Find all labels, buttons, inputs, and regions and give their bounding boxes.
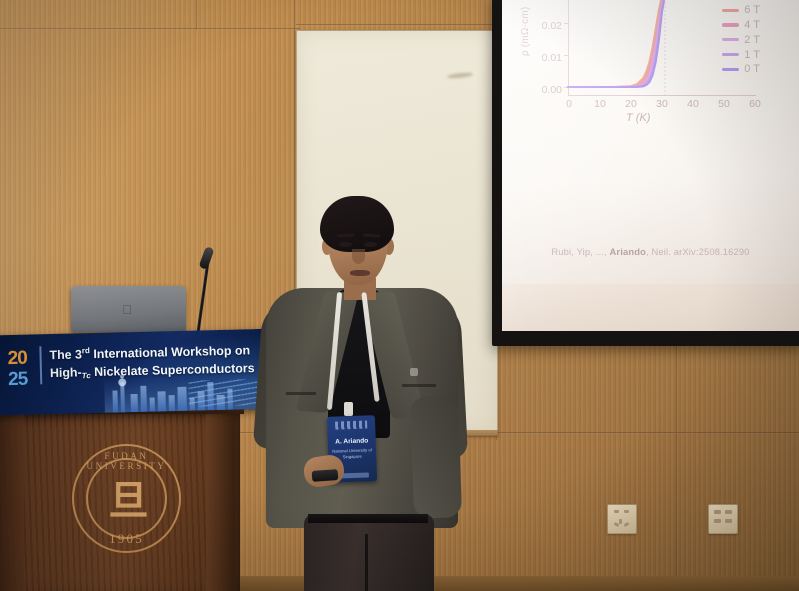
chart-x-tick-6: 60 bbox=[744, 98, 766, 110]
legend-swatch-2T bbox=[722, 38, 739, 41]
speaker-belt bbox=[308, 514, 428, 523]
speaker-eye-right bbox=[364, 242, 377, 247]
jacket-pocket-right bbox=[402, 384, 436, 387]
emblem-founding-year: 1905 bbox=[74, 531, 179, 547]
jacket-brand-badge bbox=[410, 368, 418, 376]
chart-x-tick-3: 30 bbox=[651, 98, 673, 110]
speaker-nose bbox=[352, 249, 365, 264]
legend-swatch-0T bbox=[722, 68, 739, 71]
legend-label-0T: 0 T bbox=[744, 63, 760, 75]
chart-x-tick-0: 0 bbox=[558, 98, 580, 110]
citation-suffix: , Neil. arXiv:2508.16290 bbox=[646, 246, 750, 257]
speaker-figure: A. Ariando National University of Singap… bbox=[252, 196, 472, 591]
lanyard-clip bbox=[344, 402, 353, 416]
trouser-leg-seam bbox=[365, 534, 368, 591]
citation-prefix: Rubi, Yip, ..., bbox=[551, 246, 609, 257]
legend-entry-6T: 6 T bbox=[722, 3, 760, 18]
legend-swatch-4T bbox=[722, 23, 739, 26]
banner-line2-post: Nickelate Superconductors bbox=[91, 361, 255, 379]
speaker-eye-left bbox=[339, 242, 352, 247]
chart-x-tick-2: 20 bbox=[620, 98, 642, 110]
legend-label-8T: 8 T bbox=[744, 0, 760, 1]
logo-year-bottom: 25 bbox=[8, 369, 48, 389]
conference-photo-scene: ρ (mΩ·cm) 0.03 0.02 0.01 0.00 0 10 20 30 bbox=[0, 0, 799, 591]
chart-x-axis-label: T (K) bbox=[626, 112, 650, 124]
banner-title-text: The 3rd International Workshop on High-T… bbox=[49, 341, 264, 383]
legend-swatch-6T bbox=[722, 9, 739, 12]
chart-x-tick-4: 40 bbox=[682, 98, 704, 110]
speaker-right-arm bbox=[410, 395, 462, 519]
legend-label-2T: 2 T bbox=[744, 34, 760, 46]
projection-screen-surface: ρ (mΩ·cm) 0.03 0.02 0.01 0.00 0 10 20 30 bbox=[502, 0, 799, 331]
workshop-year-logo: 20 25 bbox=[7, 348, 48, 393]
legend-swatch-1T bbox=[722, 53, 739, 56]
speaker-trousers bbox=[304, 514, 434, 591]
banner-line2-tc: Tc bbox=[82, 371, 91, 380]
whiteboard-smudge bbox=[447, 72, 473, 80]
legend-label-1T: 1 T bbox=[744, 49, 760, 61]
badge-attendee-name: A. Ariando bbox=[328, 437, 376, 446]
legend-entry-0T: 0 T bbox=[722, 62, 760, 77]
banner-line1-post: International Workshop on bbox=[90, 343, 250, 361]
banner-line2-pre: High- bbox=[50, 365, 82, 380]
legend-entry-1T: 1 T bbox=[722, 47, 760, 62]
podium-right-edge bbox=[206, 410, 240, 591]
logo-year-top: 20 bbox=[7, 348, 47, 368]
slide-citation: Rubi, Yip, ..., Ariando, Neil. arXiv:250… bbox=[502, 246, 799, 257]
chart-x-tick-5: 50 bbox=[713, 98, 735, 110]
presentation-clicker bbox=[312, 469, 339, 482]
speaker-mouth bbox=[350, 270, 370, 276]
legend-entry-2T: 2 T bbox=[722, 32, 760, 47]
chart-legend: 8 T 6 T 4 T 2 T 1 T bbox=[722, 0, 760, 77]
power-outlet-left[interactable] bbox=[607, 504, 637, 534]
legend-label-4T: 4 T bbox=[744, 19, 760, 31]
conference-banner: 20 25 The 3rd International Workshop on … bbox=[0, 329, 279, 416]
badge-header-logo bbox=[335, 420, 367, 429]
podium-left-edge bbox=[0, 410, 24, 591]
speaker-hair bbox=[320, 196, 394, 252]
legend-entry-4T: 4 T bbox=[722, 18, 760, 33]
resistivity-vs-temperature-chart: ρ (mΩ·cm) 0.03 0.02 0.01 0.00 0 10 20 30 bbox=[516, 0, 766, 116]
apple-logo-icon:  bbox=[121, 303, 133, 316]
fudan-university-emblem: FUDAN UNIVERSITY 旦 1905 bbox=[72, 444, 181, 553]
laptop-lid:  bbox=[71, 286, 186, 332]
legend-label-6T: 6 T bbox=[744, 4, 760, 16]
chart-x-tick-1: 10 bbox=[589, 98, 611, 110]
light-switch-panel-right[interactable] bbox=[708, 504, 738, 534]
jacket-pocket-left bbox=[286, 392, 316, 395]
banner-line1-pre: The 3 bbox=[49, 347, 82, 362]
slide-bottom-band bbox=[502, 284, 799, 331]
emblem-chinese-character: 旦 bbox=[88, 460, 169, 541]
citation-highlight-author: Ariando bbox=[610, 246, 646, 257]
